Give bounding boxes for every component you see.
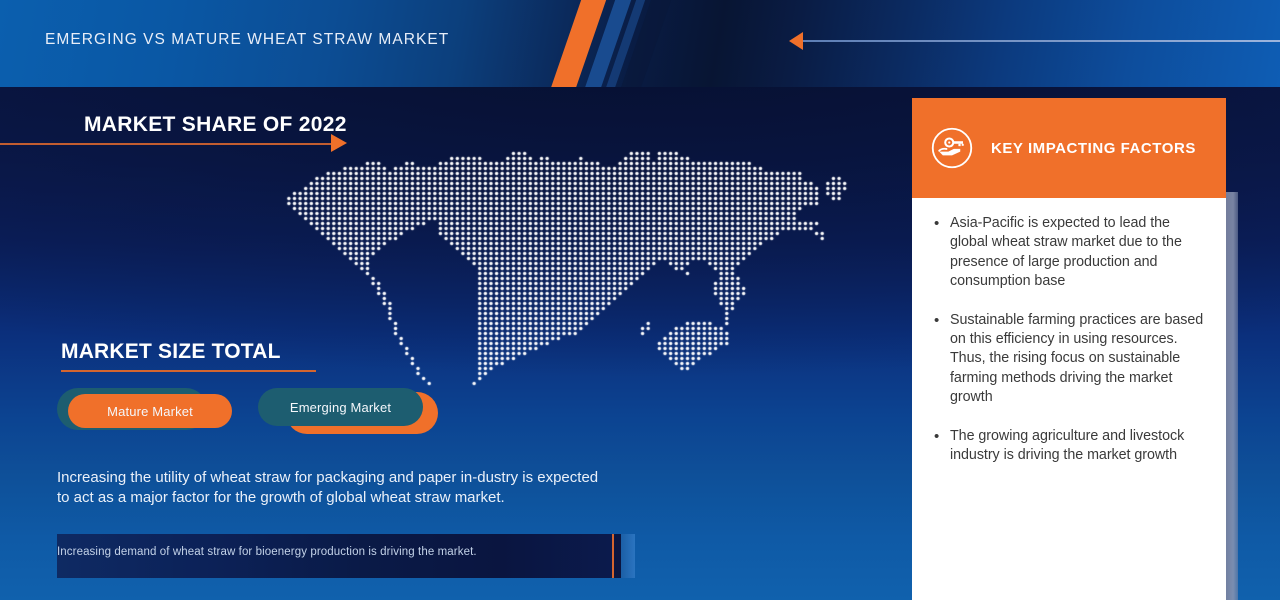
lead-paragraph: Increasing the utility of wheat straw fo… — [57, 468, 602, 507]
page-title: EMERGING VS MATURE WHEAT STRAW MARKET — [45, 31, 449, 49]
legend-pill-mature-market[interactable]: Mature Market — [57, 388, 232, 434]
list-item: • Asia-Pacific is expected to lead the g… — [934, 214, 1204, 292]
bullet-icon: • — [934, 427, 950, 466]
key-factors-header: KEY IMPACTING FACTORS — [912, 98, 1226, 198]
list-item-text: Asia-Pacific is expected to lead the glo… — [950, 214, 1204, 292]
market-share-rule — [0, 143, 333, 145]
list-item: • Sustainable farming practices are base… — [934, 311, 1204, 408]
bullet-icon: • — [934, 311, 950, 408]
footer-caption: Increasing demand of wheat straw for bio… — [57, 546, 597, 558]
legend-pill-emerging-market[interactable]: Emerging Market — [258, 388, 438, 434]
bullet-icon: • — [934, 214, 950, 292]
legend-pill-emerging-label: Emerging Market — [258, 388, 423, 426]
header-arrow-line — [800, 40, 1280, 42]
footer-light-bar — [621, 534, 635, 578]
infographic-slide: EMERGING VS MATURE WHEAT STRAW MARKET MA… — [0, 0, 1280, 600]
header-band: EMERGING VS MATURE WHEAT STRAW MARKET — [0, 0, 1280, 87]
panel-shadow — [1226, 192, 1238, 600]
dotted-world-map — [258, 146, 898, 396]
legend-pill-mature-label: Mature Market — [68, 394, 232, 428]
market-size-heading: MARKET SIZE TOTAL — [61, 340, 281, 364]
list-item-text: Sustainable farming practices are based … — [950, 311, 1204, 408]
hand-holding-key-icon — [930, 126, 974, 170]
arrow-left-icon — [789, 32, 803, 50]
key-factors-title: KEY IMPACTING FACTORS — [991, 140, 1196, 157]
footer-gap — [614, 534, 621, 578]
list-item: • The growing agriculture and livestock … — [934, 427, 1204, 466]
market-share-heading: MARKET SHARE OF 2022 — [84, 113, 347, 137]
list-item-text: The growing agriculture and livestock in… — [950, 427, 1204, 466]
key-factors-list: • Asia-Pacific is expected to lead the g… — [912, 198, 1226, 600]
market-size-rule — [61, 370, 316, 372]
